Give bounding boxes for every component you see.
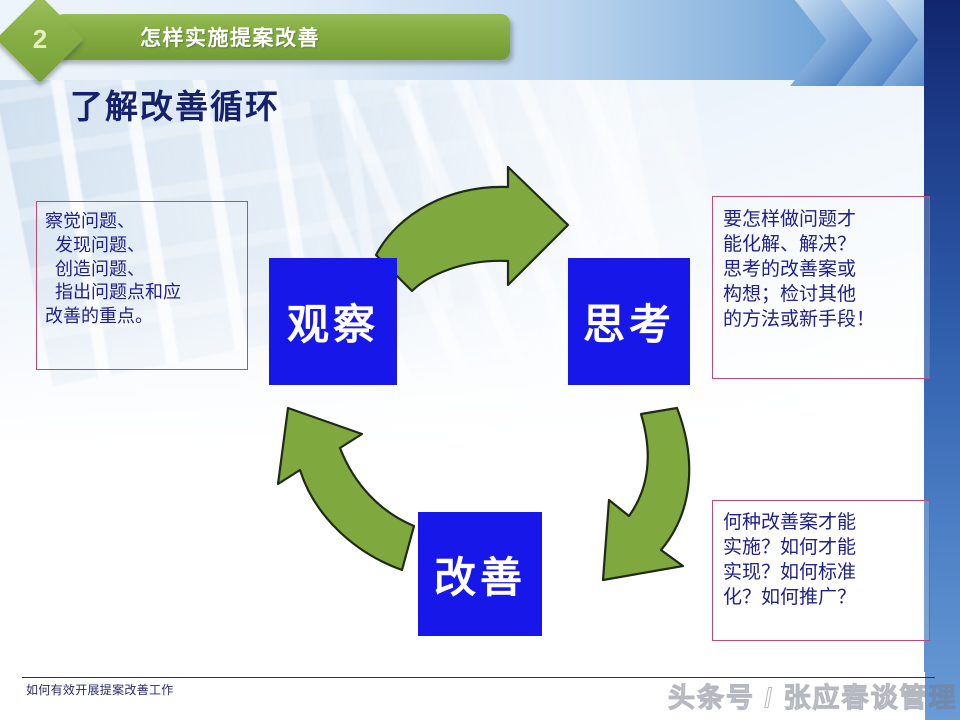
footer-label: 如何有效开展提案改善工作	[26, 681, 174, 698]
note-line: 改善的重点。	[45, 305, 241, 329]
note-line: 能化解、解决？	[723, 232, 921, 257]
arrow-observe-to-think	[372, 163, 592, 293]
note-line: 构想；检讨其他	[723, 282, 921, 307]
note-line: 察觉问题、	[45, 210, 241, 234]
arrow-think-to-improve	[557, 404, 717, 584]
page-title: 了解改善循环	[70, 80, 280, 128]
cycle-node-think[interactable]: 思考	[568, 258, 690, 385]
note-improve: 何种改善案才能 实施？如何才能 实现？如何标准 化？如何推广？	[712, 500, 930, 641]
watermark-label: 头条号 / 张应春谈管理	[668, 676, 958, 715]
note-observe: 察觉问题、 发现问题、 创造问题、 指出问题点和应 改善的重点。	[36, 201, 248, 370]
slide-canvas: 2 怎样实施提案改善 了解改善循环 观察 思考 改善 察觉问题、 发现问题、 创…	[0, 0, 960, 720]
note-line: 何种改善案才能	[723, 510, 921, 535]
note-line: 实现？如何标准	[723, 560, 921, 585]
note-line: 思考的改善案或	[723, 257, 921, 282]
note-line: 的方法或新手段！	[723, 307, 921, 332]
cycle-node-observe[interactable]: 观察	[269, 258, 397, 385]
note-line: 发现问题、	[45, 234, 241, 258]
note-line: 化？如何推广？	[723, 585, 921, 610]
section-header-title: 怎样实施提案改善	[140, 22, 320, 52]
cycle-node-improve[interactable]: 改善	[418, 512, 542, 636]
note-line: 指出问题点和应	[45, 281, 241, 305]
note-line: 创造问题、	[45, 258, 241, 282]
note-think: 要怎样做问题才 能化解、解决？ 思考的改善案或 构想；检讨其他 的方法或新手段！	[712, 196, 930, 379]
note-line: 要怎样做问题才	[723, 207, 921, 232]
section-number-label: 2	[9, 8, 71, 70]
note-line: 实施？如何才能	[723, 535, 921, 560]
arrow-improve-to-observe	[248, 402, 418, 587]
